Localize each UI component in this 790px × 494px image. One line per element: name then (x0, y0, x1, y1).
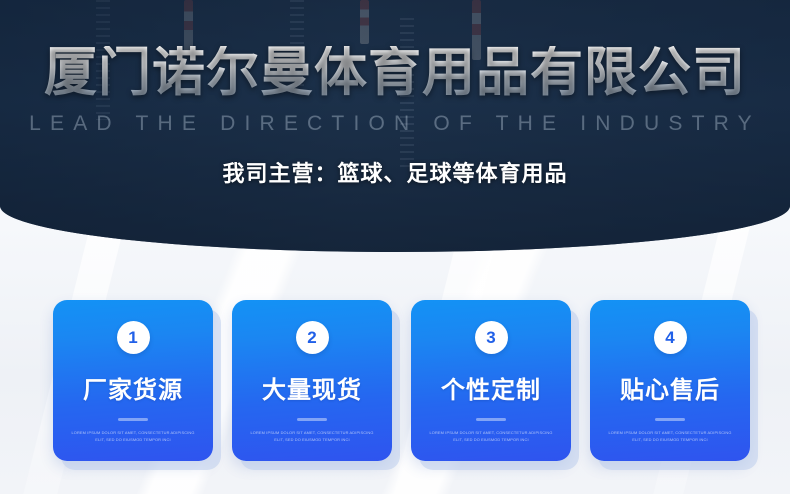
feature-card-1[interactable]: 1 厂家货源 LOREM IPSUM DOLOR SIT AMET, CONSE… (53, 300, 213, 461)
feature-card-description: LOREM IPSUM DOLOR SIT AMET, CONSECTETUR … (425, 430, 557, 444)
feature-card-divider (476, 418, 506, 421)
feature-card-number: 2 (296, 321, 329, 354)
feature-card-2[interactable]: 2 大量现货 LOREM IPSUM DOLOR SIT AMET, CONSE… (232, 300, 392, 461)
hero-content: 厦门诺尔曼体育用品有限公司 LEAD THE DIRECTION OF THE … (0, 0, 790, 252)
feature-card-description: LOREM IPSUM DOLOR SIT AMET, CONSECTETUR … (246, 430, 378, 444)
feature-card-number: 4 (654, 321, 687, 354)
feature-card-divider (118, 418, 148, 421)
feature-card-list: 1 厂家货源 LOREM IPSUM DOLOR SIT AMET, CONSE… (53, 300, 750, 461)
feature-card-description: LOREM IPSUM DOLOR SIT AMET, CONSECTETUR … (604, 430, 736, 444)
feature-card-3[interactable]: 3 个性定制 LOREM IPSUM DOLOR SIT AMET, CONSE… (411, 300, 571, 461)
feature-card-title: 贴心售后 (620, 370, 720, 405)
promo-banner-page: 厦门诺尔曼体育用品有限公司 LEAD THE DIRECTION OF THE … (0, 0, 790, 494)
feature-card-title: 个性定制 (441, 370, 541, 405)
feature-card-description: LOREM IPSUM DOLOR SIT AMET, CONSECTETUR … (67, 430, 199, 444)
feature-card-title: 厂家货源 (83, 370, 183, 405)
feature-card-divider (655, 418, 685, 421)
feature-card-4[interactable]: 4 贴心售后 LOREM IPSUM DOLOR SIT AMET, CONSE… (590, 300, 750, 461)
feature-card-number: 3 (475, 321, 508, 354)
hero-banner: 厦门诺尔曼体育用品有限公司 LEAD THE DIRECTION OF THE … (0, 0, 790, 252)
feature-card-title: 大量现货 (262, 370, 362, 405)
hero-subtitle: 我司主营：篮球、足球等体育用品 (222, 156, 567, 188)
feature-card-divider (297, 418, 327, 421)
feature-card-number: 1 (117, 321, 150, 354)
hero-english-tagline: LEAD THE DIRECTION OF THE INDUSTRY (29, 112, 761, 136)
company-title: 厦门诺尔曼体育用品有限公司 (44, 46, 746, 99)
